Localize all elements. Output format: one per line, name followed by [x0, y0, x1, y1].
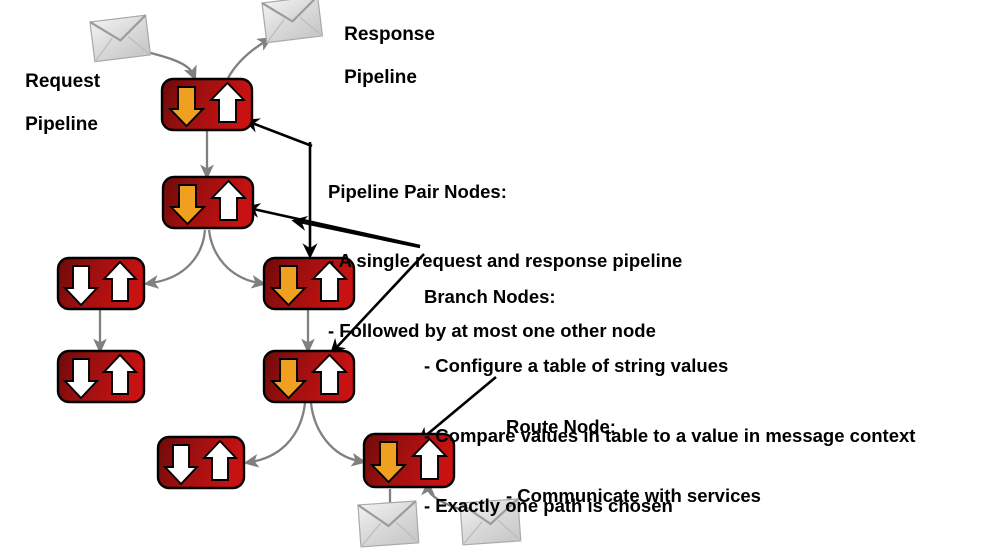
label-request-pipeline-line-2: Pipeline: [25, 114, 98, 135]
wire-node1-to-response-env: [228, 41, 266, 78]
envelope-response-out: [262, 0, 322, 43]
wire-branch-lower-to-leaf-bottom-left: [251, 403, 305, 462]
node-pipeline-pair-2[interactable]: [163, 177, 253, 228]
label-request-pipeline-line-1: Request: [25, 71, 100, 92]
node-leaf-left[interactable]: [58, 351, 144, 402]
envelope-service-request: [358, 501, 419, 547]
annotation-header: Pipeline Pair Nodes:: [328, 180, 682, 203]
annotation-bullet: - Communicate with services: [506, 484, 846, 507]
wire-node2-to-branch-right: [209, 230, 259, 283]
node-branch-left[interactable]: [58, 258, 144, 309]
node-leaf-bottom-left[interactable]: [158, 437, 244, 488]
wire-node2-to-branch-left: [151, 230, 205, 283]
pointer-pipeline-pair-to-node1: [252, 123, 312, 146]
label-response-pipeline: Response Pipeline: [323, 3, 435, 110]
annotation-route-node: Route Node: - Communicate with services …: [506, 368, 846, 550]
diagram-canvas: Request Pipeline Response Pipeline Pipel…: [0, 0, 994, 550]
label-response-pipeline-line-2: Pipeline: [344, 67, 417, 88]
node-pipeline-pair-1[interactable]: [162, 79, 252, 130]
annotation-header: Route Node:: [506, 415, 846, 438]
wire-branch-lower-to-route: [311, 403, 359, 461]
label-request-pipeline: Request Pipeline: [4, 50, 100, 157]
annotation-header: Branch Nodes:: [424, 285, 915, 308]
label-response-pipeline-line-1: Response: [344, 24, 435, 45]
